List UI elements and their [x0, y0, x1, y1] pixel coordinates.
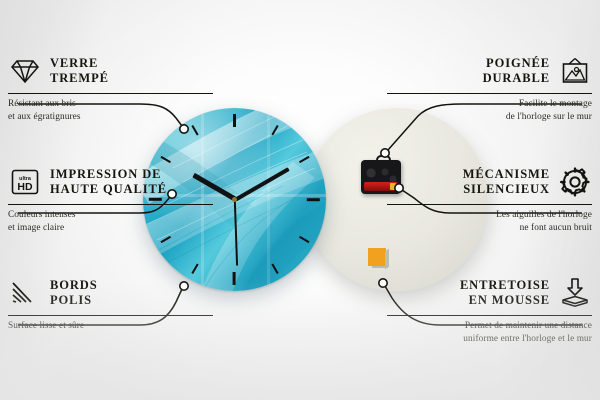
feature-entretoise-en-mousse[interactable]: ENTRETOISEEN MOUSSE Permet de maintenir …	[387, 274, 592, 345]
feature-title: ENTRETOISEEN MOUSSE	[460, 278, 550, 308]
wire-dot-poignee	[381, 149, 389, 157]
feature-mecanisme-silencieux[interactable]: MÉCANISMESILENCIEUX Les aiguilles de l'h…	[387, 163, 592, 234]
feature-poignee-durable[interactable]: POIGNÉEDURABLE Facilite le montagede l'h…	[387, 52, 592, 123]
foam-spacer-arrow-icon	[558, 277, 592, 309]
divider	[8, 93, 213, 94]
feature-description: Surface lisse et sûre	[8, 320, 213, 333]
feature-impression-haute-qualite[interactable]: ultra HD IMPRESSION DEHAUTE QUALITÉ Coul…	[8, 163, 213, 234]
wire-dot-entretoise	[379, 279, 387, 287]
divider	[387, 204, 592, 205]
gear-icon	[558, 166, 592, 198]
wire-dot-verre	[180, 125, 188, 133]
feature-description: Permet de maintenir une distanceuniforme…	[387, 320, 592, 345]
divider	[8, 204, 213, 205]
polished-edges-icon	[8, 277, 42, 309]
divider	[387, 93, 592, 94]
feature-description: Couleurs intenseset image claire	[8, 209, 213, 234]
feature-title: MÉCANISMESILENCIEUX	[463, 167, 550, 197]
feature-title: VERRETREMPÉ	[50, 56, 109, 86]
feature-title: POIGNÉEDURABLE	[483, 56, 550, 86]
feature-verre-trempe[interactable]: VERRETREMPÉ Résistant aux briset aux égr…	[8, 52, 213, 123]
feature-description: Résistant aux briset aux égratignures	[8, 98, 213, 123]
feature-title: IMPRESSION DEHAUTE QUALITÉ	[50, 167, 167, 197]
feature-description: Les aiguilles de l'horlogene font aucun …	[387, 209, 592, 234]
infographic-canvas: VERRETREMPÉ Résistant aux briset aux égr…	[0, 0, 600, 400]
divider	[387, 315, 592, 316]
ultra-hd-icon: ultra HD	[8, 166, 42, 198]
svg-text:HD: HD	[17, 181, 33, 193]
feature-bords-polis[interactable]: BORDSPOLIS Surface lisse et sûre	[8, 274, 213, 333]
feature-description: Facilite le montagede l'horloge sur le m…	[387, 98, 592, 123]
divider	[8, 315, 213, 316]
feature-title: BORDSPOLIS	[50, 278, 98, 308]
wall-hanger-frame-icon	[558, 55, 592, 87]
diamond-icon	[8, 55, 42, 87]
